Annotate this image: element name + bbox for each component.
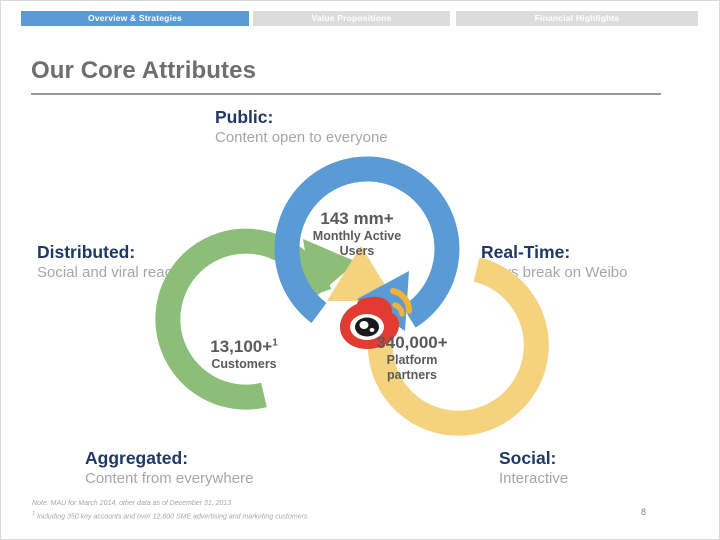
- core-attributes-diagram: 143 mm+ Monthly Active Users 13,100+1 Cu…: [151, 141, 571, 481]
- footnote-1: 1 Including 350 key accounts and over 12…: [32, 509, 307, 522]
- footnotes: Note: MAU for March 2014, other data as …: [32, 499, 307, 522]
- page-number: 8: [641, 507, 646, 517]
- tab-overview-and-strategies[interactable]: Overview & Strategies: [19, 11, 249, 26]
- ring-caption-partners-line2: partners: [347, 368, 477, 383]
- ring-value-mau: 143 mm+: [277, 209, 437, 229]
- ring-label-partners: 340,000+ Platform partners: [347, 333, 477, 383]
- title-divider: [31, 93, 661, 95]
- section-tabbar: Overview & Strategies Value Propositions…: [1, 1, 720, 31]
- footnote-1-text: Including 350 key accounts and over 12,8…: [35, 513, 307, 520]
- tab-value-propositions[interactable]: Value Propositions: [253, 11, 450, 26]
- ring-caption-mau-line2: Users: [277, 244, 437, 259]
- footnote-note: Note: MAU for March 2014, other data as …: [32, 499, 307, 509]
- slide: Overview & Strategies Value Propositions…: [0, 0, 720, 540]
- page-title: Our Core Attributes: [31, 57, 256, 85]
- ring-caption-customers-line1: Customers: [179, 357, 309, 372]
- tab-financial-highlights[interactable]: Financial Highlights: [456, 11, 698, 26]
- attribute-public-heading: Public:: [215, 107, 388, 128]
- ring-value-customers-footnote-marker: 1: [272, 337, 278, 348]
- ring-label-mau: 143 mm+ Monthly Active Users: [277, 209, 437, 259]
- ring-caption-mau-line1: Monthly Active: [277, 229, 437, 244]
- ring-value-customers: 13,100+1: [179, 337, 309, 357]
- ring-value-partners: 340,000+: [347, 333, 477, 353]
- ring-caption-partners-line1: Platform: [347, 353, 477, 368]
- ring-label-customers: 13,100+1 Customers: [179, 337, 309, 372]
